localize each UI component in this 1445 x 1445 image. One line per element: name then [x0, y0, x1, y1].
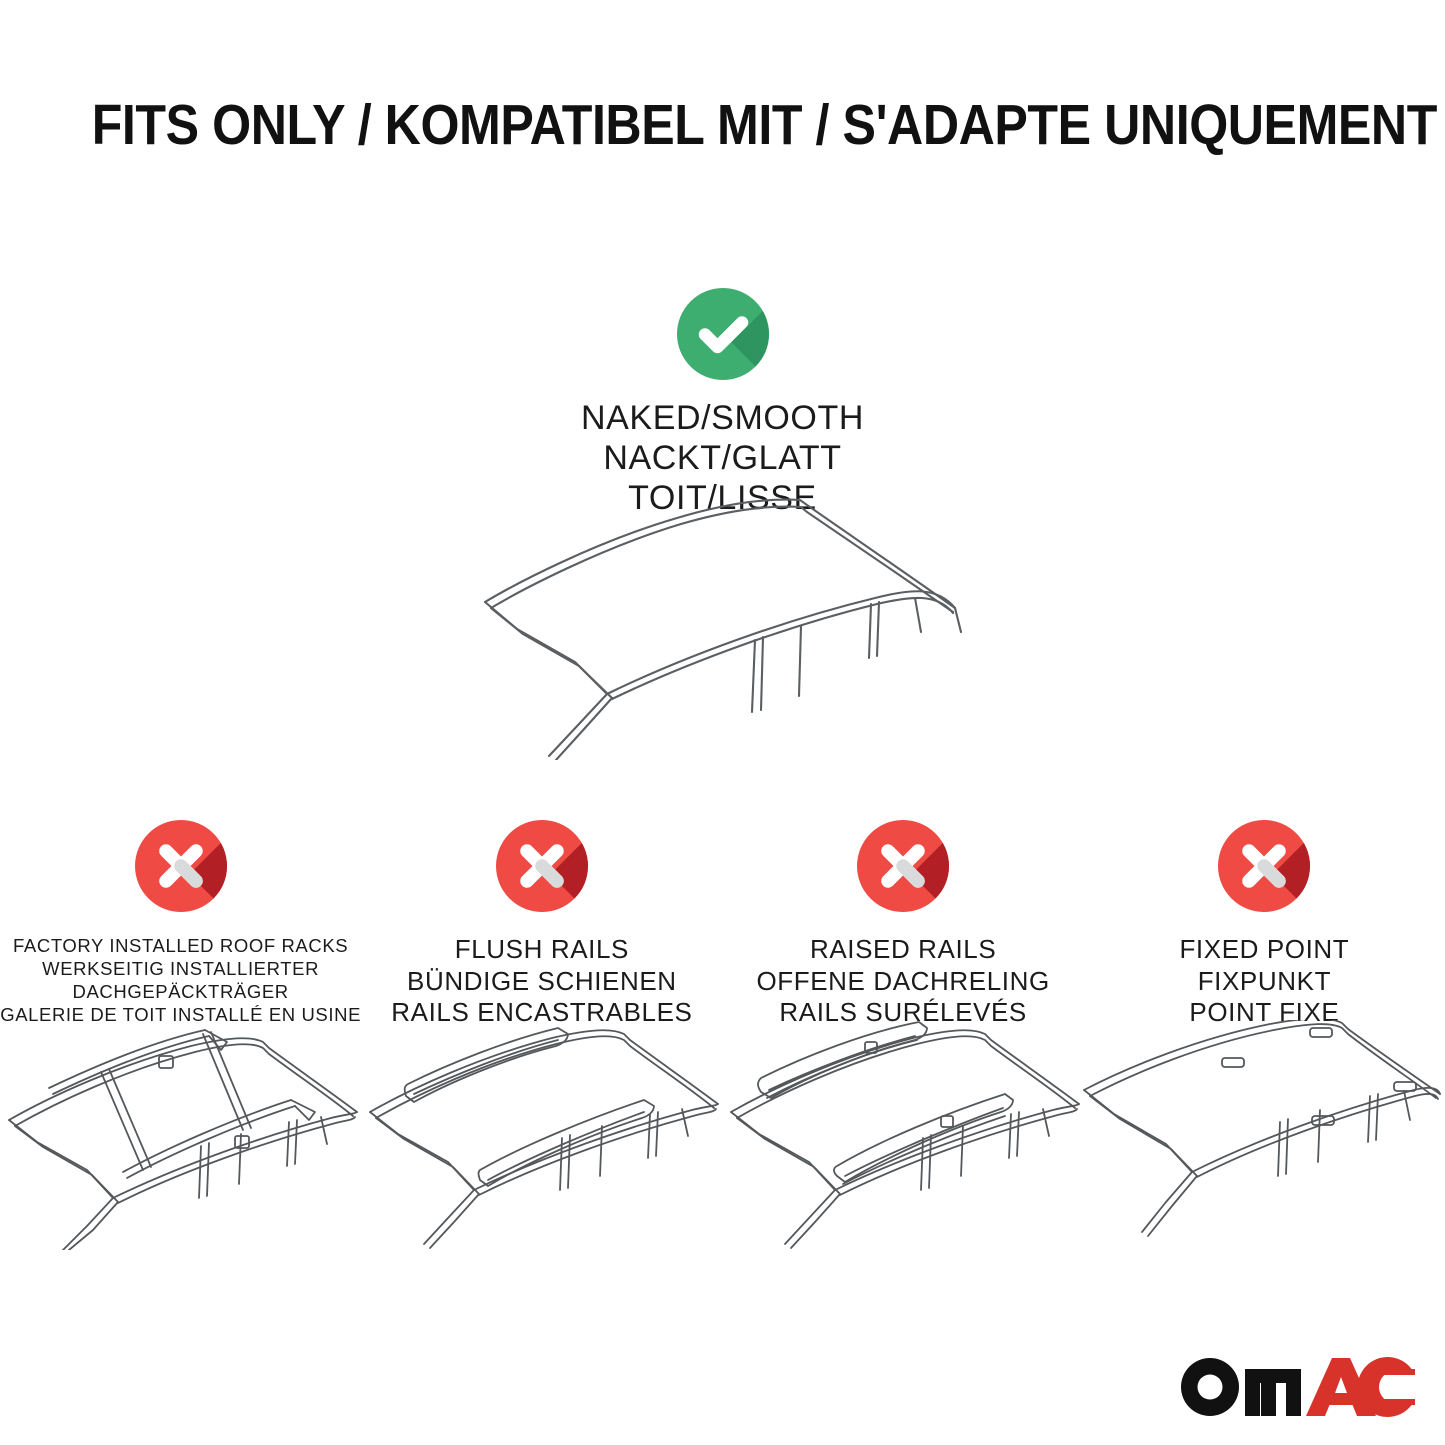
naked-smooth-roof-illustration	[455, 480, 1015, 760]
page-title-wrap: FITS ONLY / KOMPATIBEL MIT / S'ADAPTE UN…	[0, 96, 1445, 156]
x-mark-glyph	[135, 820, 227, 912]
badge-slot	[1084, 820, 1445, 920]
x-circle-icon	[1218, 820, 1310, 912]
x-circle-icon	[857, 820, 949, 912]
flush-rails-illustration	[352, 1020, 732, 1250]
compatible-label-en: NAKED/SMOOTH	[0, 399, 1445, 439]
incompatible-section: FACTORY INSTALLED ROOF RACKS WERKSEITIG …	[0, 820, 1445, 1290]
badge-slot	[723, 820, 1084, 920]
x-circle-icon	[135, 820, 227, 912]
item-labels: FLUSH RAILS BÜNDIGE SCHIENEN RAILS ENCAS…	[361, 934, 722, 1029]
omac-logo-mark	[1177, 1349, 1417, 1421]
label-de: FIXPUNKT	[1084, 966, 1445, 998]
badge-slot	[0, 820, 361, 920]
label-de: OFFENE DACHRELING	[723, 966, 1084, 998]
incompatible-item-raised-rails: RAISED RAILS OFFENE DACHRELING RAILS SUR…	[723, 820, 1084, 1290]
label-en: FLUSH RAILS	[361, 934, 722, 966]
fixed-point-illustration	[1074, 1020, 1445, 1250]
label-de-line2: DACHGEPÄCKTRÄGER	[0, 980, 361, 1003]
check-circle-icon	[677, 288, 769, 380]
incompatible-item-fixed-point: FIXED POINT FIXPUNKT POINT FIXE	[1084, 820, 1445, 1290]
incompatible-item-factory-installed-roof-racks: FACTORY INSTALLED ROOF RACKS WERKSEITIG …	[0, 820, 361, 1290]
label-en: FACTORY INSTALLED ROOF RACKS	[0, 934, 361, 957]
fitment-infographic: FITS ONLY / KOMPATIBEL MIT / S'ADAPTE UN…	[0, 0, 1445, 1445]
label-en: RAISED RAILS	[723, 934, 1084, 966]
x-circle-icon	[496, 820, 588, 912]
page-title: FITS ONLY / KOMPATIBEL MIT / S'ADAPTE UN…	[92, 96, 1437, 156]
item-labels: RAISED RAILS OFFENE DACHRELING RAILS SUR…	[723, 934, 1084, 1029]
raised-rails-illustration	[713, 1020, 1093, 1250]
x-mark-glyph	[496, 820, 588, 912]
label-de-line1: WERKSEITIG INSTALLIERTER	[0, 957, 361, 980]
item-labels: FACTORY INSTALLED ROOF RACKS WERKSEITIG …	[0, 934, 361, 1027]
item-labels: FIXED POINT FIXPUNKT POINT FIXE	[1084, 934, 1445, 1029]
badge-slot	[361, 820, 722, 920]
x-mark-glyph	[857, 820, 949, 912]
incompatible-item-flush-rails: FLUSH RAILS BÜNDIGE SCHIENEN RAILS ENCAS…	[361, 820, 722, 1290]
label-de: BÜNDIGE SCHIENEN	[361, 966, 722, 998]
label-en: FIXED POINT	[1084, 934, 1445, 966]
compatible-label-de: NACKT/GLATT	[0, 439, 1445, 479]
check-mark-glyph	[677, 288, 769, 380]
factory-roof-rack-illustration	[0, 1020, 371, 1250]
x-mark-glyph	[1218, 820, 1310, 912]
omac-logo: OMAC	[1177, 1349, 1417, 1421]
